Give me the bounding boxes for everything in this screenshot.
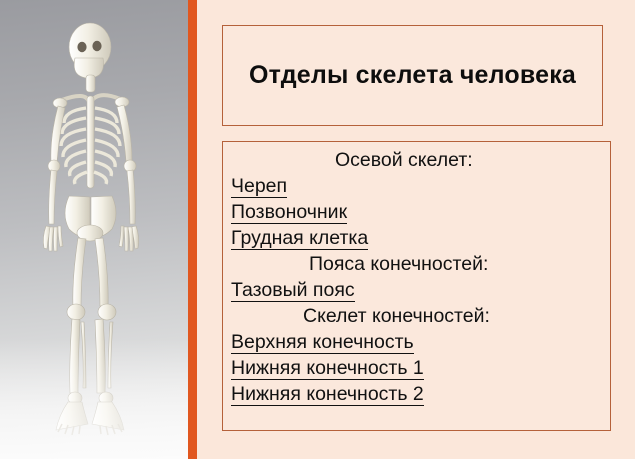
link-upper-limb[interactable]: Верхняя конечность: [223, 330, 610, 356]
floor-gradient: [0, 339, 188, 459]
link-label[interactable]: Позвоночник: [231, 202, 347, 224]
presentation-slide: Отделы скелета человека Осевой скелет: Ч…: [0, 0, 635, 459]
link-skull[interactable]: Череп: [223, 174, 610, 200]
link-ribcage[interactable]: Грудная клетка: [223, 226, 610, 252]
link-lower-limb-1[interactable]: Нижняя конечность 1: [223, 356, 610, 382]
link-lower-limb-2[interactable]: Нижняя конечность 2: [223, 382, 610, 408]
link-pelvic-girdle[interactable]: Тазовый пояс: [223, 278, 610, 304]
group-heading-limbs: Скелет конечностей:: [223, 304, 610, 330]
link-label[interactable]: Грудная клетка: [231, 228, 368, 250]
group-heading-axial: Осевой скелет:: [223, 148, 610, 174]
link-label[interactable]: Нижняя конечность 1: [231, 358, 424, 380]
group-heading-label: Скелет конечностей:: [303, 307, 490, 327]
group-heading-label: Пояса конечностей:: [309, 255, 488, 275]
link-label[interactable]: Череп: [231, 176, 287, 198]
link-label[interactable]: Верхняя конечность: [231, 332, 414, 354]
link-label[interactable]: Нижняя конечность 2: [231, 384, 424, 406]
group-heading-label: Осевой скелет:: [335, 151, 473, 171]
content-box: Осевой скелет: Череп Позвоночник Грудная…: [222, 141, 611, 431]
group-heading-girdles: Пояса конечностей:: [223, 252, 610, 278]
page-title: Отделы скелета человека: [241, 60, 584, 91]
title-box: Отделы скелета человека: [222, 25, 603, 126]
skeleton-photo: [0, 0, 188, 459]
link-label[interactable]: Тазовый пояс: [231, 280, 355, 302]
orange-divider: [188, 0, 197, 459]
link-spine[interactable]: Позвоночник: [223, 200, 610, 226]
